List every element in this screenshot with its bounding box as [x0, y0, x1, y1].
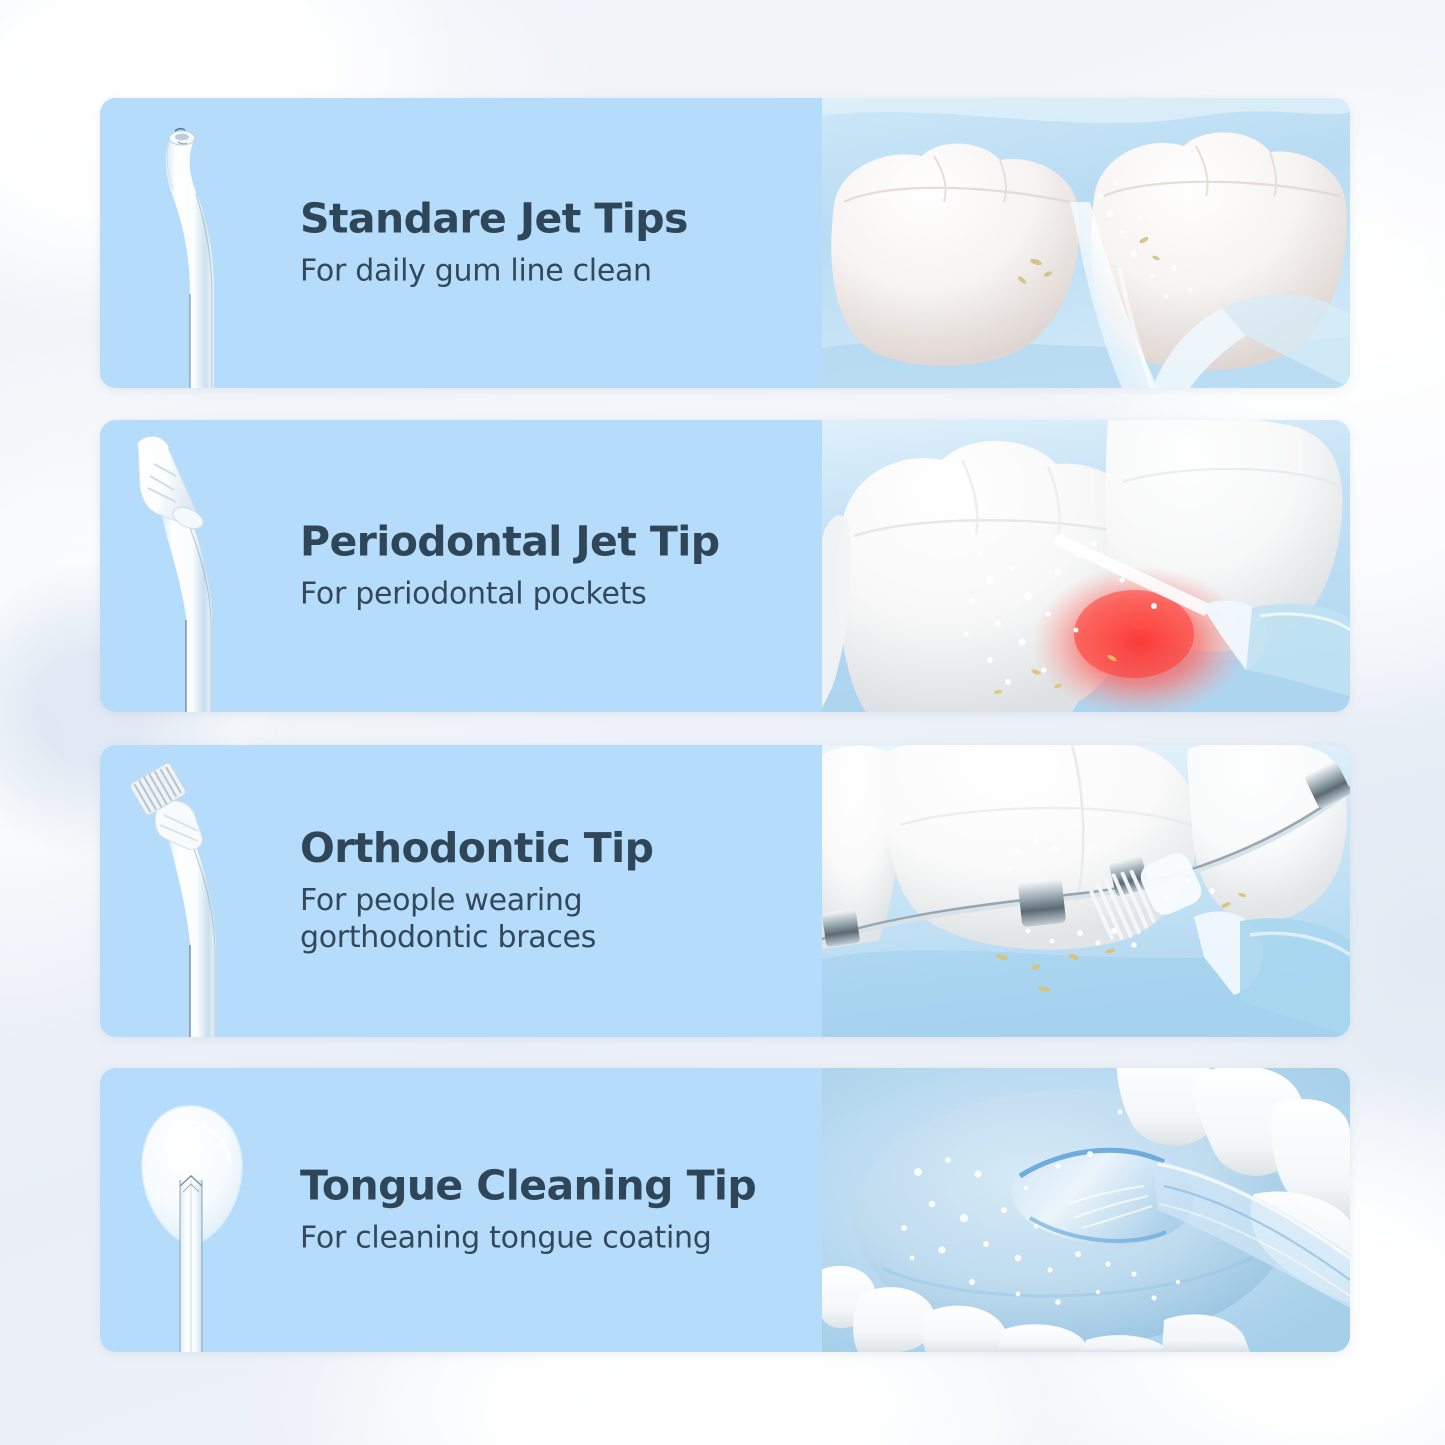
tip-subtitle: For daily gum line clean — [300, 252, 812, 289]
tip-card-text-block: Standare Jet Tips For daily gum line cle… — [300, 196, 812, 289]
tip-subtitle: For cleaning tongue coating — [300, 1219, 812, 1256]
tip-subtitle-line: For daily gum line clean — [300, 252, 812, 289]
braces-cleaning-photo — [822, 745, 1350, 1037]
periodontal-pocket-photo — [822, 420, 1350, 712]
tip-card-text-block: Orthodontic Tip For people wearing gorth… — [300, 826, 812, 956]
periodontal-jet-tip-nozzle-icon — [114, 420, 304, 712]
tongue-cleaning-tip-nozzle-icon — [114, 1068, 304, 1352]
molars-water-jet-photo — [822, 98, 1350, 388]
tip-card-text-panel: Standare Jet Tips For daily gum line cle… — [100, 98, 822, 388]
standard-jet-tip-nozzle-icon — [114, 98, 304, 388]
tongue-cleaning-photo — [822, 1068, 1350, 1352]
tip-card-text-block: Tongue Cleaning Tip For cleaning tongue … — [300, 1163, 812, 1256]
tip-subtitle-line: For periodontal pockets — [300, 575, 812, 612]
tip-card-tongue-cleaning-tip[interactable]: Tongue Cleaning Tip For cleaning tongue … — [100, 1068, 1350, 1352]
tip-title: Periodontal Jet Tip — [300, 519, 812, 565]
tip-card-text-panel: Periodontal Jet Tip For periodontal pock… — [100, 420, 822, 712]
tip-card-orthodontic-tip[interactable]: Orthodontic Tip For people wearing gorth… — [100, 745, 1350, 1037]
tip-subtitle: For periodontal pockets — [300, 575, 812, 612]
tip-title: Tongue Cleaning Tip — [300, 1163, 812, 1209]
infographic-page: Standare Jet Tips For daily gum line cle… — [0, 0, 1445, 1445]
tip-title: Standare Jet Tips — [300, 196, 812, 242]
tip-card-periodontal-jet-tip[interactable]: Periodontal Jet Tip For periodontal pock… — [100, 420, 1350, 712]
tip-title: Orthodontic Tip — [300, 826, 812, 872]
tip-card-text-panel: Orthodontic Tip For people wearing gorth… — [100, 745, 822, 1037]
orthodontic-tip-nozzle-icon — [114, 745, 304, 1037]
tip-card-standard-jet-tips[interactable]: Standare Jet Tips For daily gum line cle… — [100, 98, 1350, 388]
tip-subtitle-line: For cleaning tongue coating — [300, 1219, 812, 1256]
tip-subtitle: For people wearing gorthodontic braces — [300, 882, 812, 956]
tip-card-text-panel: Tongue Cleaning Tip For cleaning tongue … — [100, 1068, 822, 1352]
tip-subtitle-line: For people wearing — [300, 882, 812, 919]
tip-card-text-block: Periodontal Jet Tip For periodontal pock… — [300, 519, 812, 612]
tip-subtitle-line: gorthodontic braces — [300, 919, 812, 956]
